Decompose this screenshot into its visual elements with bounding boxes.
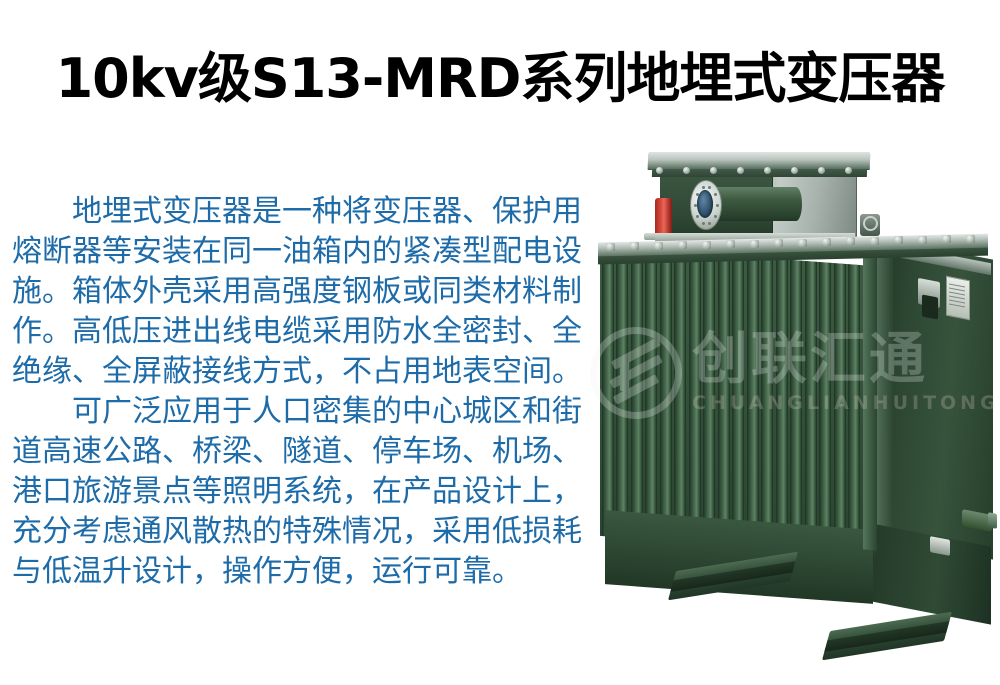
lifting-ring-icon <box>863 216 878 231</box>
tank-rim-bolt <box>798 239 807 247</box>
tank-rim-bolt <box>822 238 831 246</box>
radiator-fin <box>790 260 802 551</box>
flange-bolt <box>702 222 705 225</box>
flange-bolt <box>714 193 717 196</box>
product-photo-transformer: 创联汇通 CHUANGLIANHUITONG <box>560 130 1000 685</box>
roof-bolt <box>845 167 852 174</box>
product-banner-page: 10kv级S13-MRD系列地埋式变压器 地埋式变压器是一种将变压器、保护用熔断… <box>0 0 1000 685</box>
tank-rim-bolt <box>678 241 687 249</box>
roof-bolt <box>683 167 690 174</box>
red-bushing <box>655 198 672 236</box>
roof-bolt <box>764 167 771 174</box>
paragraph-1: 地埋式变压器是一种将变压器、保护用熔断器等安装在同一油箱内的紧凑型配电设施。箱体… <box>12 192 592 392</box>
radiator-fin <box>747 257 759 548</box>
radiator-fin <box>674 251 686 542</box>
tank-rim-bolt <box>702 241 711 249</box>
tank-rim-bolt <box>846 237 855 245</box>
paragraph-2: 可广泛应用于人口密集的中心城区和街道高速公路、桥梁、隧道、停车场、机场、港口旅游… <box>12 392 592 592</box>
roof-bolt <box>791 167 798 174</box>
radiator-fin <box>703 253 715 544</box>
radiator-fin <box>645 249 657 540</box>
tank-rim-bolt <box>606 243 615 251</box>
tank-rim-bolt <box>750 240 759 248</box>
description-text-block: 地埋式变压器是一种将变压器、保护用熔断器等安装在同一油箱内的紧凑型配电设施。箱体… <box>12 192 592 592</box>
radiator-fin <box>776 259 788 550</box>
radiator-fin <box>689 252 701 543</box>
tank-rim-bolt <box>774 239 783 247</box>
radiator-fin <box>602 246 614 537</box>
radiator-fin <box>834 263 846 554</box>
radiator-fin <box>718 255 730 546</box>
page-title: 10kv级S13-MRD系列地埋式变压器 <box>0 48 1000 110</box>
radiator-fin <box>761 258 773 549</box>
radiator-fin <box>805 261 817 552</box>
tank-rim-bolt <box>654 242 663 250</box>
tank-rim-bolt <box>966 235 975 243</box>
nameplate-text-lines <box>949 280 965 313</box>
bushing-bore <box>697 190 713 218</box>
cabinet-latch-block <box>922 294 938 319</box>
radiator-fin <box>660 250 672 541</box>
flange-bolt <box>702 186 705 189</box>
cabinet-roof-slab <box>648 152 871 169</box>
tank-rim-bolt <box>918 236 927 244</box>
roof-bolt <box>737 167 744 174</box>
flange-bolt <box>694 204 697 207</box>
radiator-fin <box>848 264 860 555</box>
roof-bolt <box>818 167 825 174</box>
roof-bolt <box>710 167 717 174</box>
radiator-fin-array <box>600 246 875 556</box>
tank-rim-bolt <box>726 240 735 248</box>
base-skid-beam-front <box>822 612 952 661</box>
tank-rim-bolt <box>870 237 879 245</box>
radiator-fin <box>819 262 831 553</box>
radiator-fin <box>631 248 643 539</box>
tank-corner-column <box>863 253 877 550</box>
tank-rim-bolt <box>630 242 639 250</box>
tank-rim-bolt <box>894 236 903 244</box>
radiator-fin <box>732 256 744 547</box>
tank-rim-bolt <box>942 235 951 243</box>
roof-bolt <box>656 167 663 174</box>
radiator-fin <box>616 247 628 538</box>
flange-bolt <box>716 204 719 207</box>
flange-bolt <box>696 193 699 196</box>
drain-valve-cap <box>988 512 997 529</box>
